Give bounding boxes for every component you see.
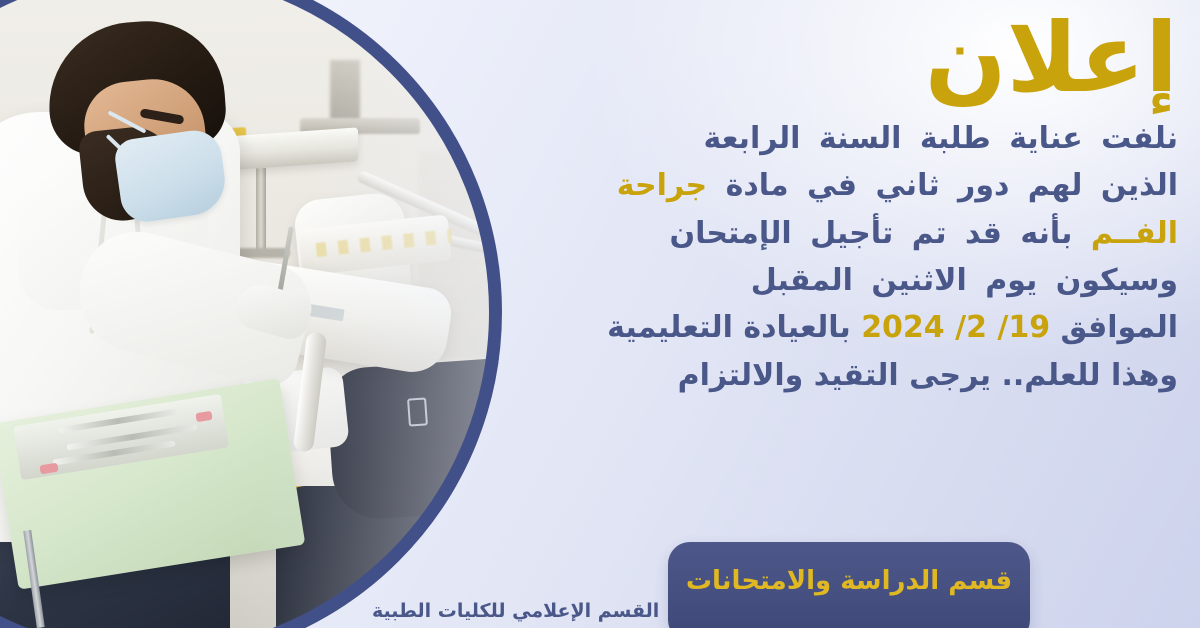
body-segment: وهذا للعلم.. يرجى التقيد والالتزام: [678, 358, 1178, 393]
body-line: وهذا للعلم.. يرجى التقيد والالتزام: [518, 352, 1178, 399]
body-line: وسيكون يوم الاثنين المقبل: [518, 257, 1178, 304]
body-line: الفــم بأنه قد تم تأجيل الإمتحان: [518, 210, 1178, 257]
page-title: إعلان: [518, 0, 1178, 109]
body-segment: بالعيادة التعليمية: [607, 310, 861, 345]
exam-date-value: 2024 /2 /19: [861, 304, 1050, 351]
body-segment: وسيكون يوم الاثنين المقبل: [751, 263, 1178, 298]
body-segment-highlight: جراحة: [617, 168, 707, 203]
body-segment: نلفت عناية طلبة السنة الرابعة: [704, 121, 1178, 156]
body-line: الذين لهم دور ثاني في مادة جراحة: [518, 162, 1178, 209]
announcement-poster: إعلان نلفت عناية طلبة السنة الرابعة الذي…: [0, 0, 1200, 628]
body-segment: الذين لهم دور ثاني في مادة: [707, 168, 1178, 203]
body-line: نلفت عناية طلبة السنة الرابعة: [518, 115, 1178, 162]
announcement-body: نلفت عناية طلبة السنة الرابعة الذين لهم …: [518, 115, 1178, 399]
body-segment: بأنه قد تم تأجيل الإمتحان: [670, 216, 1091, 251]
media-department-credit: القسم الإعلامي للكليات الطبية: [372, 600, 702, 622]
body-line: الموافق 2024 /2 /19 بالعيادة التعليمية: [518, 304, 1178, 351]
body-segment: الموافق: [1050, 310, 1178, 345]
body-segment-highlight: الفــم: [1091, 216, 1178, 251]
department-badge: قسم الدراسة والامتحانات: [668, 542, 1030, 628]
announcement-content: إعلان نلفت عناية طلبة السنة الرابعة الذي…: [518, 0, 1178, 628]
department-badge-label: قسم الدراسة والامتحانات: [686, 566, 1012, 596]
